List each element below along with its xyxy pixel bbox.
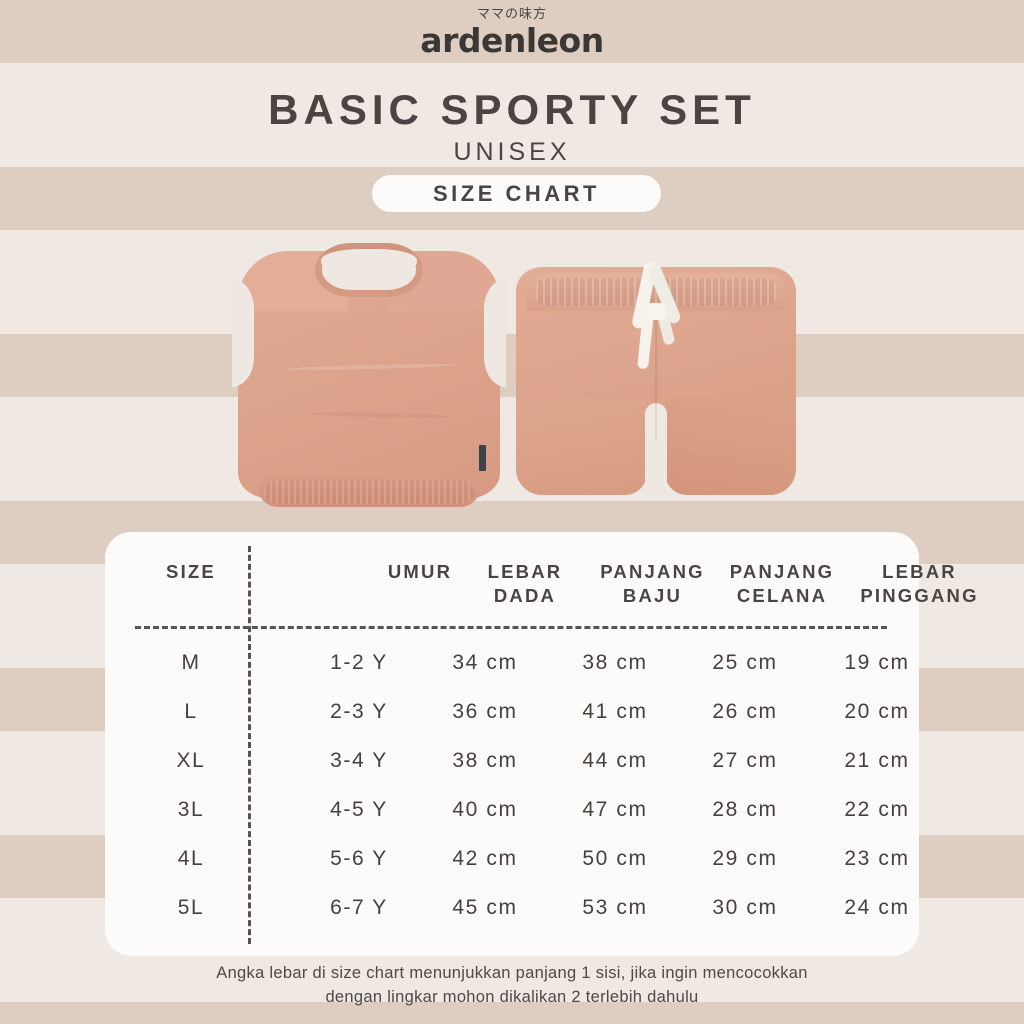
cell-panjang-baju: 44 cm	[555, 746, 675, 776]
column-header-lebar-pinggang-line1: LEBAR	[827, 560, 1012, 584]
cell-size: 3L	[135, 795, 247, 825]
cell-umur: 5-6 Y	[299, 844, 419, 874]
column-header-lebar-pinggang: LEBAR PINGGANG	[827, 560, 1012, 609]
table-row: XL3-4 Y38 cm44 cm27 cm21 cm	[105, 746, 919, 795]
shorts-leg-left	[516, 399, 647, 495]
sleeveless-top-image	[232, 237, 506, 507]
table-row: 3L4-5 Y40 cm47 cm28 cm22 cm	[105, 795, 919, 844]
cell-lebar-pinggang: 23 cm	[817, 844, 937, 874]
table-row: 5L6-7 Y45 cm53 cm30 cm24 cm	[105, 893, 919, 942]
cell-size: 5L	[135, 893, 247, 923]
cell-panjang-baju: 41 cm	[555, 697, 675, 727]
footnote-line-1: Angka lebar di size chart menunjukkan pa…	[0, 962, 1024, 986]
brand-tagline-japanese: ママの味方	[0, 8, 1024, 22]
shorts-leg-right	[665, 399, 796, 495]
size-chart-table: SIZE UMUR LEBAR DADA PANJANG BAJU PANJAN…	[105, 532, 919, 956]
cell-umur: 3-4 Y	[299, 746, 419, 776]
cell-panjang-celana: 29 cm	[685, 844, 805, 874]
page-subtitle: UNISEX	[0, 138, 1024, 167]
cell-lebar-dada: 34 cm	[425, 648, 545, 678]
column-header-size: SIZE	[135, 560, 247, 584]
footnote-line-2: dengan lingkar mohon dikalikan 2 terlebi…	[0, 986, 1024, 1010]
cell-lebar-pinggang: 21 cm	[817, 746, 937, 776]
brand-logo: ママの味方 ardenleon	[0, 8, 1024, 60]
size-chart-badge: SIZE CHART	[372, 175, 661, 212]
brand-tag-icon	[479, 445, 486, 471]
cell-panjang-baju: 47 cm	[555, 795, 675, 825]
cell-umur: 1-2 Y	[299, 648, 419, 678]
size-chart-card: SIZE UMUR LEBAR DADA PANJANG BAJU PANJAN…	[105, 532, 919, 956]
cell-panjang-baju: 53 cm	[555, 893, 675, 923]
drawstring-knot	[646, 303, 666, 320]
garment-illustrations	[0, 225, 1024, 525]
cell-panjang-celana: 25 cm	[685, 648, 805, 678]
cell-panjang-celana: 26 cm	[685, 697, 805, 727]
cell-umur: 4-5 Y	[299, 795, 419, 825]
cell-size: 4L	[135, 844, 247, 874]
shorts-center-seam	[655, 311, 657, 441]
cell-lebar-pinggang: 19 cm	[817, 648, 937, 678]
cell-lebar-pinggang: 22 cm	[817, 795, 937, 825]
cell-size: L	[135, 697, 247, 727]
cell-size: XL	[135, 746, 247, 776]
cell-lebar-dada: 40 cm	[425, 795, 545, 825]
brand-name: ardenleon	[0, 22, 1024, 60]
page-title: BASIC SPORTY SET	[0, 86, 1024, 134]
page-background: ママの味方 ardenleon BASIC SPORTY SET UNISEX …	[0, 0, 1024, 1024]
cell-lebar-pinggang: 24 cm	[817, 893, 937, 923]
cell-lebar-pinggang: 20 cm	[817, 697, 937, 727]
cell-panjang-baju: 50 cm	[555, 844, 675, 874]
cell-umur: 2-3 Y	[299, 697, 419, 727]
table-row: L2-3 Y36 cm41 cm26 cm20 cm	[105, 697, 919, 746]
footnote: Angka lebar di size chart menunjukkan pa…	[0, 962, 1024, 1010]
cell-lebar-dada: 45 cm	[425, 893, 545, 923]
column-header-lebar-pinggang-line2: PINGGANG	[827, 584, 1012, 608]
table-row: M1-2 Y34 cm38 cm25 cm19 cm	[105, 648, 919, 697]
table-horizontal-divider	[135, 626, 887, 629]
cell-panjang-celana: 30 cm	[685, 893, 805, 923]
cell-panjang-celana: 27 cm	[685, 746, 805, 776]
cell-panjang-celana: 28 cm	[685, 795, 805, 825]
top-armhole-left-cut	[232, 279, 254, 387]
cell-panjang-baju: 38 cm	[555, 648, 675, 678]
size-chart-badge-label: SIZE CHART	[433, 181, 600, 207]
cell-lebar-dada: 42 cm	[425, 844, 545, 874]
cell-lebar-dada: 36 cm	[425, 697, 545, 727]
shorts-image	[516, 267, 796, 495]
cell-size: M	[135, 648, 247, 678]
table-row: 4L5-6 Y42 cm50 cm29 cm23 cm	[105, 844, 919, 893]
top-elastic-hem	[258, 477, 480, 507]
cell-umur: 6-7 Y	[299, 893, 419, 923]
cell-lebar-dada: 38 cm	[425, 746, 545, 776]
top-armhole-right-cut	[484, 279, 506, 387]
